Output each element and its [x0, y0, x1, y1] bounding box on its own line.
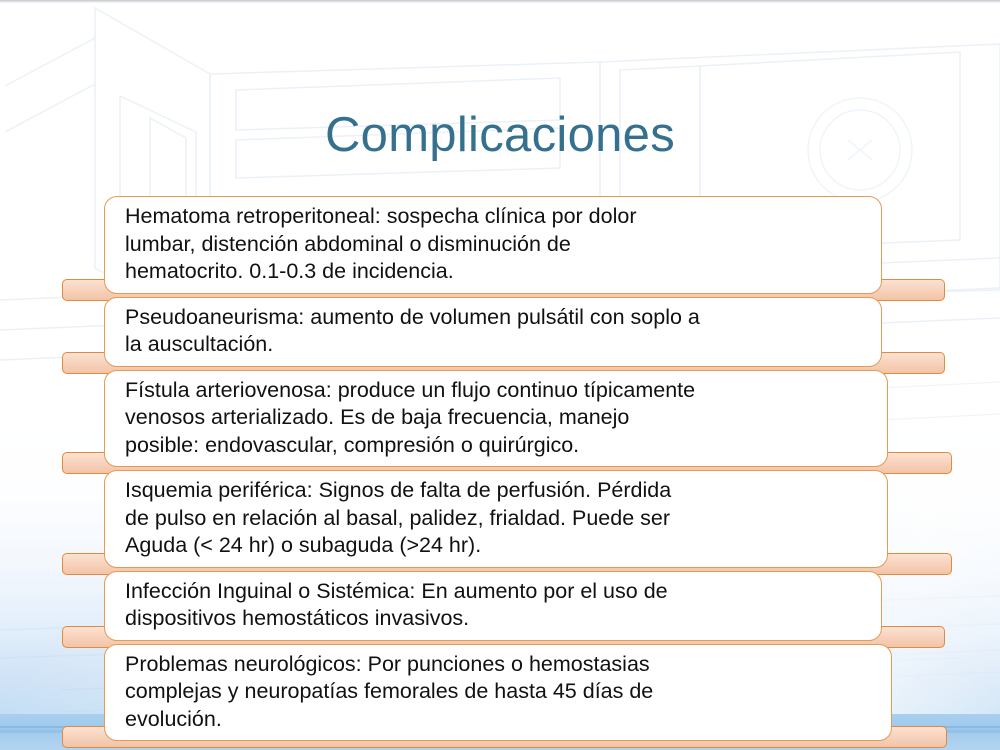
slide-title: Complicaciones	[0, 107, 1000, 163]
item-box: Pseudoaneurisma: aumento de volumen puls…	[104, 297, 882, 367]
item-box: Hematoma retroperitoneal: sospecha clíni…	[104, 196, 882, 294]
item-text: Isquemia periférica: Signos de falta de …	[125, 477, 877, 560]
list-item: Infección Inguinal o Sistémica: En aumen…	[0, 571, 1000, 641]
item-box: Fístula arteriovenosa: produce un flujo …	[104, 370, 888, 468]
complications-list: Hematoma retroperitoneal: sospecha clíni…	[0, 196, 1000, 744]
list-item: Pseudoaneurisma: aumento de volumen puls…	[0, 297, 1000, 367]
slide-canvas: Complicaciones Hematoma retroperitoneal:…	[0, 0, 1000, 750]
item-text: Problemas neurológicos: Por punciones o …	[125, 651, 881, 734]
list-item: Fístula arteriovenosa: produce un flujo …	[0, 370, 1000, 468]
list-item: Problemas neurológicos: Por punciones o …	[0, 644, 1000, 742]
item-text: Fístula arteriovenosa: produce un flujo …	[125, 377, 877, 460]
item-text: Pseudoaneurisma: aumento de volumen puls…	[125, 304, 871, 359]
item-text: Infección Inguinal o Sistémica: En aumen…	[125, 578, 871, 633]
item-text: Hematoma retroperitoneal: sospecha clíni…	[125, 203, 871, 286]
item-box: Problemas neurológicos: Por punciones o …	[104, 644, 892, 742]
list-item: Hematoma retroperitoneal: sospecha clíni…	[0, 196, 1000, 294]
background-top-rule	[0, 0, 1000, 3]
item-box: Infección Inguinal o Sistémica: En aumen…	[104, 571, 882, 641]
list-item: Isquemia periférica: Signos de falta de …	[0, 470, 1000, 568]
item-box: Isquemia periférica: Signos de falta de …	[104, 470, 888, 568]
